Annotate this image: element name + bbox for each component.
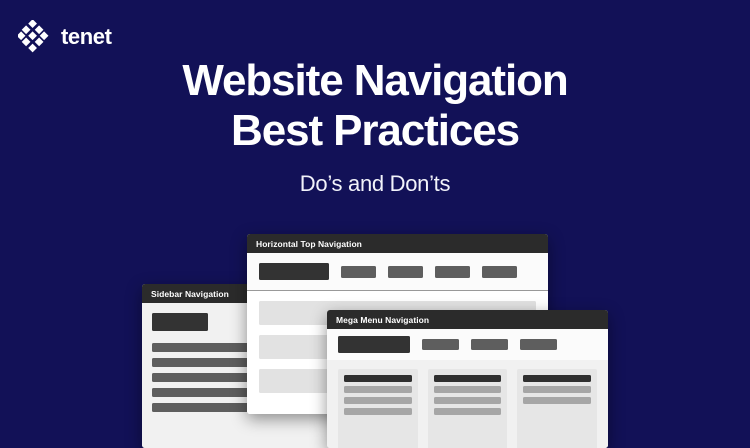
mega-nav-item [422,339,459,350]
mega-logo-block [338,336,410,353]
mockup-card-mega-menu-navigation[interactable]: Mega Menu Navigation [327,310,608,448]
mega-menu-column [338,369,418,448]
mockup-title-mega: Mega Menu Navigation [336,315,429,325]
mega-menu-column [428,369,508,448]
horizontal-nav-item [341,266,376,278]
sidebar-logo-block [152,313,208,331]
mega-column-line-bar [523,397,591,404]
mega-column-line-bar [344,397,412,404]
mockup-header-horizontal: Horizontal Top Navigation [247,234,548,253]
mega-column-line-bar [344,386,412,393]
mega-column-line-bar [523,386,591,393]
mega-nav-item [520,339,557,350]
horizontal-nav-item [435,266,470,278]
mega-menu-columns [327,360,608,448]
mega-column-line-bar [344,408,412,415]
navigation-mockups-stage: Sidebar Navigation Horizontal Top Naviga… [0,0,750,448]
mega-nav-bar [327,329,608,360]
mockup-body-mega [327,329,608,448]
horizontal-nav-item [482,266,517,278]
mega-column-line-bar [434,408,502,415]
mega-menu-column [517,369,597,448]
mega-column-line-bar [434,386,502,393]
mega-column-heading-bar [434,375,502,382]
horizontal-logo-block [259,263,329,280]
mockup-title-horizontal: Horizontal Top Navigation [256,239,362,249]
horizontal-nav-item [388,266,423,278]
mockup-title-sidebar: Sidebar Navigation [151,289,229,299]
mega-nav-item [471,339,508,350]
mega-column-heading-bar [523,375,591,382]
mega-column-heading-bar [344,375,412,382]
mega-column-line-bar [434,397,502,404]
horizontal-nav-bar [247,253,548,291]
mockup-header-mega: Mega Menu Navigation [327,310,608,329]
